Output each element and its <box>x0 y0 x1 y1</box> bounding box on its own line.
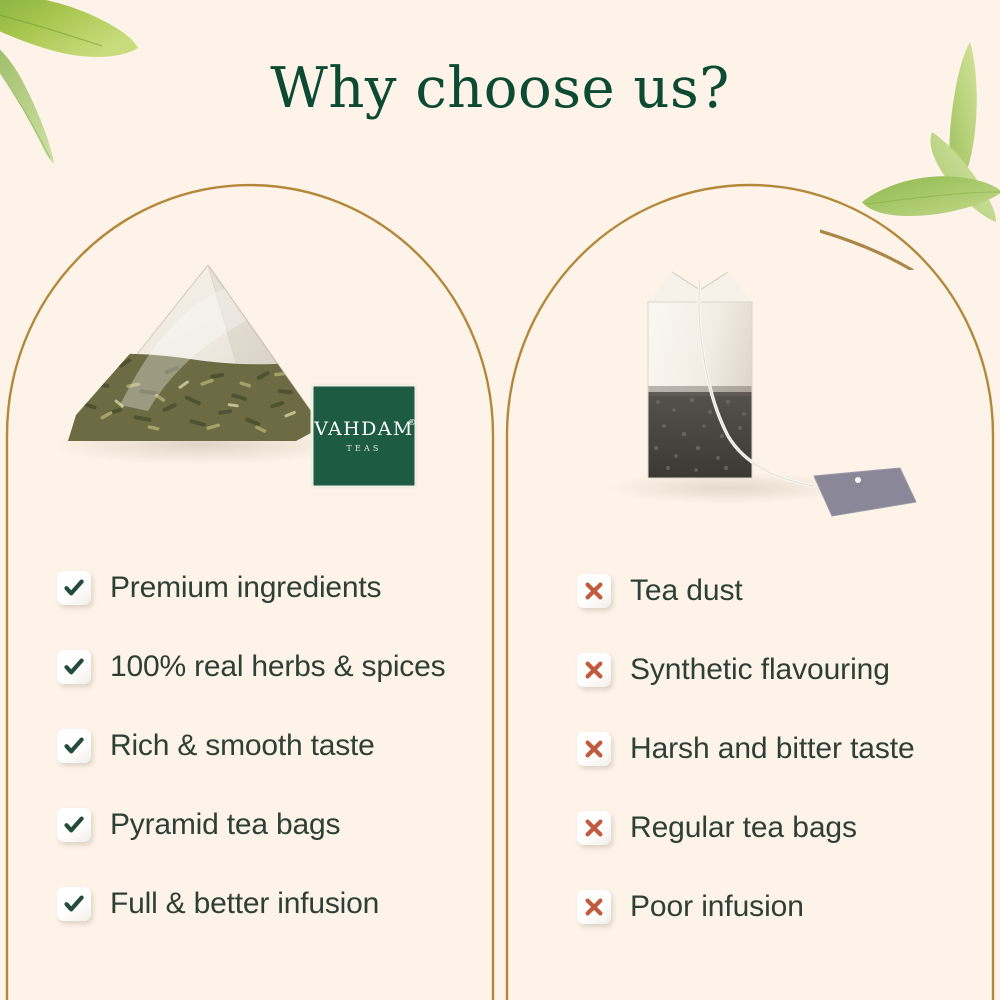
list-item: Harsh and bitter taste <box>577 709 977 788</box>
svg-text:TEAS: TEAS <box>346 444 381 453</box>
comparison-graphic: Why choose us? <box>0 0 1000 1000</box>
page-title: Why choose us? <box>0 58 1000 120</box>
list-item-label: Pyramid tea bags <box>110 808 340 842</box>
list-item-label: Premium ingredients <box>110 571 381 605</box>
cross-icon <box>577 653 611 687</box>
cross-icon <box>577 811 611 845</box>
list-item: 100% real herbs & spices <box>57 627 487 706</box>
list-item: Poor infusion <box>577 867 977 946</box>
list-item: Pyramid tea bags <box>57 785 487 864</box>
check-icon <box>57 808 91 842</box>
check-icon <box>57 650 91 684</box>
list-item: Rich & smooth taste <box>57 706 487 785</box>
list-item-label: Harsh and bitter taste <box>630 732 915 766</box>
check-icon <box>57 571 91 605</box>
cross-icon <box>577 890 611 924</box>
list-item: Premium ingredients <box>57 548 487 627</box>
check-icon <box>57 729 91 763</box>
list-item-label: Rich & smooth taste <box>110 729 375 763</box>
list-item: Tea dust <box>577 551 977 630</box>
tea-bag-tag <box>814 468 916 516</box>
list-item: Full & better infusion <box>57 864 487 943</box>
pros-list: Premium ingredients 100% real herbs & sp… <box>57 548 487 943</box>
list-item-label: Full & better infusion <box>110 887 379 921</box>
svg-text:VAHDAM: VAHDAM <box>313 418 414 440</box>
list-item: Synthetic flavouring <box>577 630 977 709</box>
cons-list: Tea dust Synthetic flavouring Harsh and … <box>577 551 977 946</box>
list-item-label: Poor infusion <box>630 890 804 924</box>
pyramid-tea-bag: VAHDAM ® TEAS <box>60 255 460 525</box>
svg-text:®: ® <box>408 418 416 427</box>
list-item-label: Regular tea bags <box>630 811 857 845</box>
regular-tea-bag <box>600 250 980 530</box>
vahdam-brand-tag: VAHDAM ® TEAS <box>312 385 416 487</box>
cross-icon <box>577 574 611 608</box>
list-item-label: 100% real herbs & spices <box>110 650 445 684</box>
list-item-label: Tea dust <box>630 574 743 608</box>
cross-icon <box>577 732 611 766</box>
list-item: Regular tea bags <box>577 788 977 867</box>
check-icon <box>57 887 91 921</box>
list-item-label: Synthetic flavouring <box>630 653 890 687</box>
